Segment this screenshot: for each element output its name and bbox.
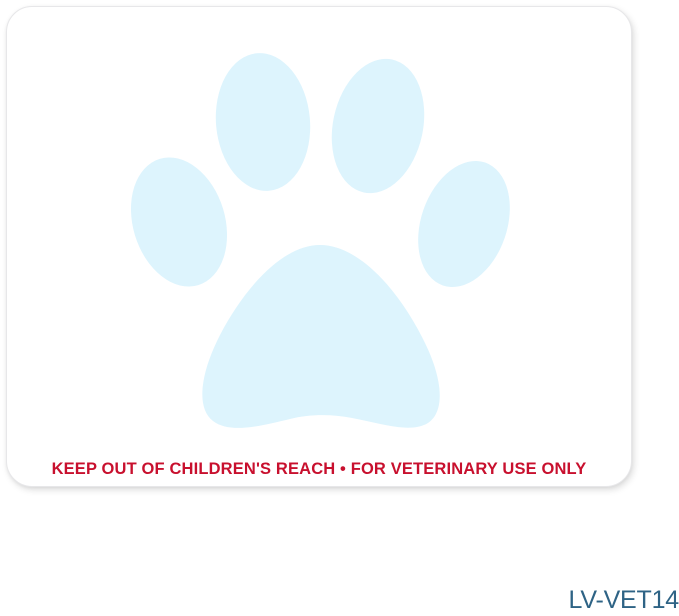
sku-code: LV-VET14 [569,586,679,614]
paw-main-pad [202,245,439,428]
paw-toe-pad-outer-right [402,149,526,300]
warning-text: KEEP OUT OF CHILDREN'S REACH • FOR VETER… [7,459,631,479]
label-preview-stage: KEEP OUT OF CHILDREN'S REACH • FOR VETER… [0,0,679,616]
veterinary-label-card: KEEP OUT OF CHILDREN'S REACH • FOR VETER… [6,6,632,487]
paw-print-icon [7,7,632,487]
paw-toe-pad-inner-left [210,49,316,195]
paw-toe-pad-outer-left [116,145,243,298]
paw-toe-pad-inner-right [320,50,436,202]
